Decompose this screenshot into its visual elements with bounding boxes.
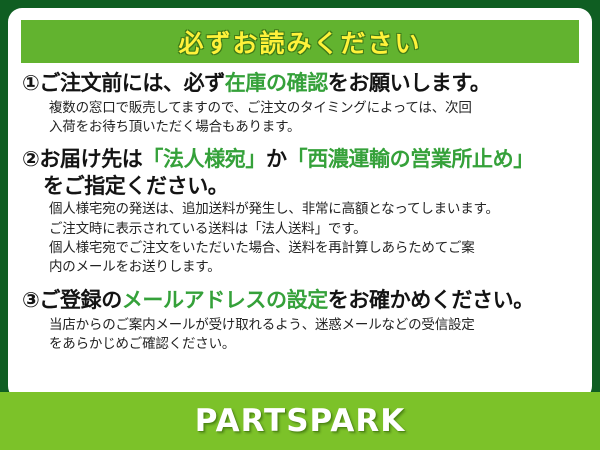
footer-brand-band: PARTSPARK	[0, 392, 600, 450]
notice-item-2-heading-part-1: お届け先は	[39, 147, 142, 171]
notice-header-title: 必ずお読みください	[178, 24, 421, 60]
notice-item-3-heading-part-1: ご登録の	[39, 288, 121, 312]
notice-item-1-body: 複数の窓口で販売してますので、ご注文のタイミングによっては、次回入荷をお待ち頂い…	[22, 99, 580, 137]
notice-item-3-marker: ③	[22, 288, 39, 312]
notice-card: 必ずお読みください ①ご注文前には、必ず在庫の確認をお願いします。 複数の窓口で…	[8, 8, 592, 400]
notice-item-2: ②お届け先は「法人様宛」か「西濃運輸の営業所止め」 をご指定ください。 個人様宅…	[8, 146, 592, 277]
notice-item-2-marker: ②	[22, 147, 39, 171]
notice-item-2-heading-continuation: をご指定ください。	[22, 174, 580, 199]
notice-item-1-marker: ①	[22, 71, 39, 95]
notice-item-3-body-line-2: をあらかじめご確認ください。	[49, 335, 580, 354]
notice-item-1-heading-part-1: ご注文前には、必ず	[39, 71, 224, 95]
notice-item-3-heading-part-3: をお確かめください。	[328, 288, 534, 312]
notice-item-2-body-line-1: 個人様宅宛の発送は、追加送料が発生し、非常に高額となってしまいます。	[49, 200, 580, 219]
notice-item-3-body: 当店からのご案内メールが受け取れるよう、迷惑メールなどの受信設定をあらかじめご確…	[22, 316, 580, 354]
notice-item-1-heading-part-2: 在庫の確認	[225, 71, 328, 95]
notice-header-banner: 必ずお読みください	[21, 20, 579, 63]
notice-frame: 必ずお読みください ①ご注文前には、必ず在庫の確認をお願いします。 複数の窓口で…	[0, 0, 600, 450]
notice-item-list: ①ご注文前には、必ず在庫の確認をお願いします。 複数の窓口で販売してますので、ご…	[8, 68, 592, 354]
notice-item-1-body-line-1: 複数の窓口で販売してますので、ご注文のタイミングによっては、次回	[49, 99, 580, 118]
notice-item-2-body: 個人様宅宛の発送は、追加送料が発生し、非常に高額となってしまいます。ご注文時に表…	[22, 200, 580, 277]
notice-item-1: ①ご注文前には、必ず在庫の確認をお願いします。 複数の窓口で販売してますので、ご…	[8, 70, 592, 137]
notice-item-2-heading-part-3: か	[266, 147, 287, 171]
notice-item-2-heading-part-4: 「西濃運輸の営業所止め」	[287, 147, 534, 171]
notice-item-1-heading: ①ご注文前には、必ず在庫の確認をお願いします。	[22, 70, 580, 98]
notice-item-2-body-line-3: 個人様宅宛でご注文をいただいた場合、送料を再計算しあらためてご案	[49, 239, 580, 258]
brand-name: PARTSPARK	[195, 403, 406, 439]
notice-item-1-heading-part-3: をお願いします。	[328, 71, 491, 95]
notice-item-1-body-line-2: 入荷をお待ち頂いただく場合もあります。	[49, 118, 580, 137]
notice-item-3-body-line-1: 当店からのご案内メールが受け取れるよう、迷惑メールなどの受信設定	[49, 316, 580, 335]
notice-item-3: ③ご登録のメールアドレスの設定をお確かめください。 当店からのご案内メールが受け…	[8, 287, 592, 354]
notice-item-2-body-line-4: 内のメールをお送りします。	[49, 258, 580, 277]
notice-item-3-heading: ③ご登録のメールアドレスの設定をお確かめください。	[22, 287, 580, 315]
notice-item-2-body-line-2: ご注文時に表示されている送料は「法人送料」です。	[49, 220, 580, 239]
notice-item-2-heading: ②お届け先は「法人様宛」か「西濃運輸の営業所止め」	[22, 146, 580, 174]
notice-item-3-heading-part-2: メールアドレスの設定	[122, 288, 328, 312]
notice-item-2-heading-part-2: 「法人様宛」	[142, 147, 266, 171]
